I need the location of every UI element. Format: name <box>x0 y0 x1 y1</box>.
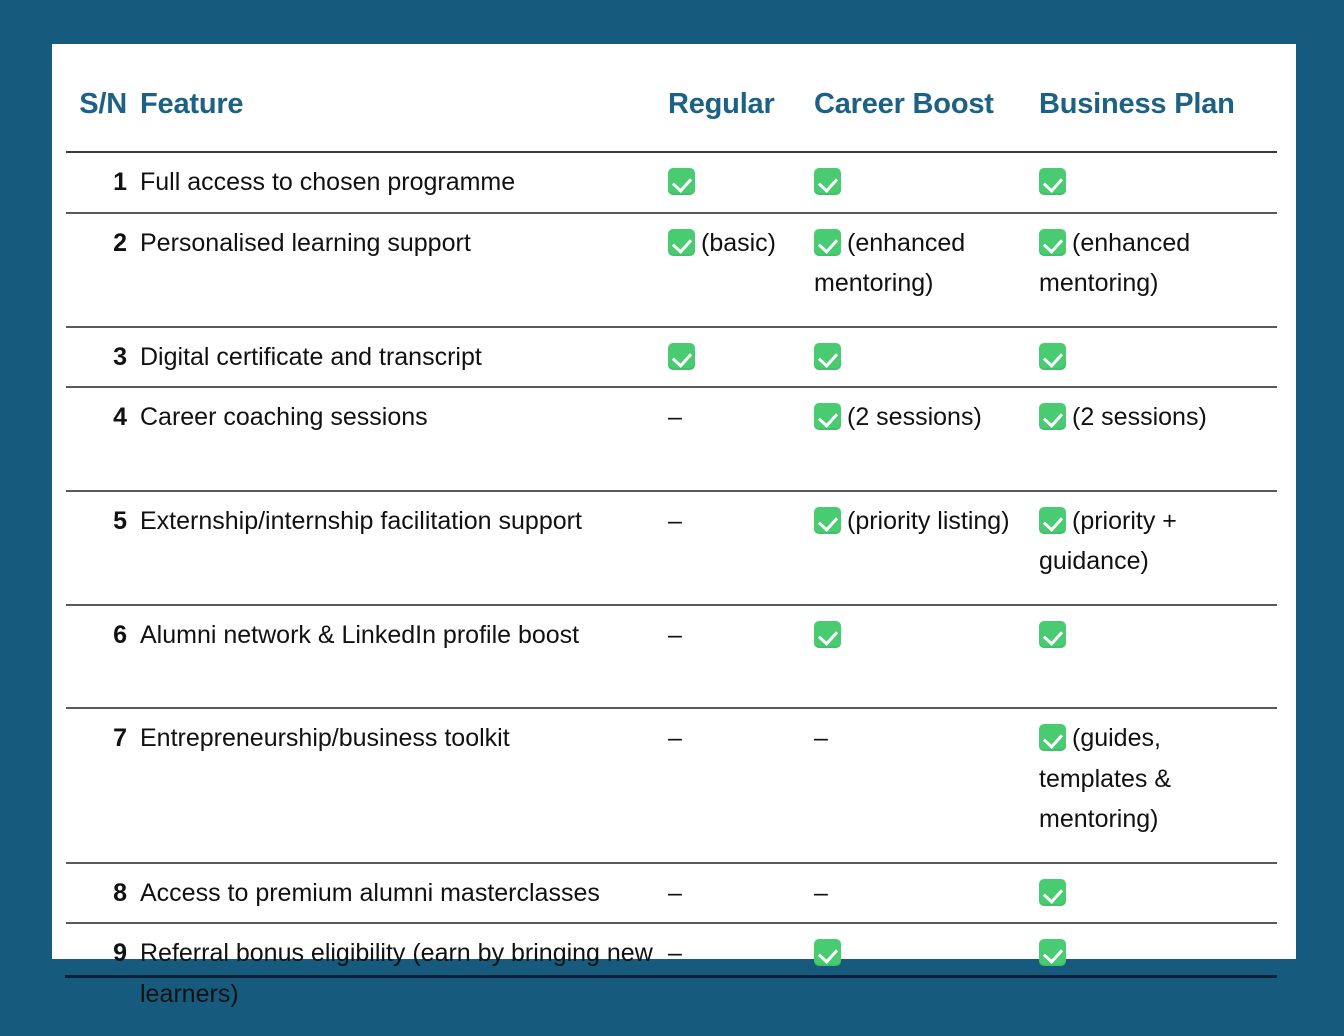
content-panel: S/N Feature Regular Career Boost Busines… <box>52 44 1296 959</box>
row-number: 4 <box>66 387 140 491</box>
plan-note: (2 sessions) <box>1072 403 1207 431</box>
cell-business-plan <box>1039 152 1277 213</box>
feature-label: Externship/internship facilitation suppo… <box>140 491 668 605</box>
feature-label: Full access to chosen programme <box>140 152 668 213</box>
check-mark-button-icon <box>814 343 841 370</box>
cell-career-boost <box>814 327 1039 388</box>
cell-business-plan <box>1039 923 1277 1036</box>
row-number: 7 <box>66 708 140 863</box>
check-mark-button-icon <box>1039 168 1066 195</box>
check-mark-button-icon <box>814 229 841 256</box>
cell-business-plan <box>1039 605 1277 709</box>
row-number: 2 <box>66 213 140 327</box>
cell-regular: – <box>668 923 814 1036</box>
check-mark-button-icon <box>1039 621 1066 648</box>
check-mark-button-icon <box>814 168 841 195</box>
cell-business-plan: (priority + guidance) <box>1039 491 1277 605</box>
feature-label: Referral bonus eligibility (earn by brin… <box>140 923 668 1036</box>
en-dash-icon: – <box>668 933 682 974</box>
footer-divider <box>65 975 1277 978</box>
table-row: 9Referral bonus eligibility (earn by bri… <box>66 923 1277 1036</box>
cell-career-boost: – <box>814 708 1039 863</box>
en-dash-icon: – <box>668 873 682 914</box>
cell-business-plan: (2 sessions) <box>1039 387 1277 491</box>
check-mark-button-icon <box>1039 343 1066 370</box>
row-number: 6 <box>66 605 140 709</box>
cell-regular <box>668 327 814 388</box>
column-header-business-plan: Business Plan <box>1039 88 1277 152</box>
plan-note: (basic) <box>701 229 776 257</box>
check-mark-button-icon <box>668 168 695 195</box>
row-number: 9 <box>66 923 140 1036</box>
check-mark-button-icon <box>1039 507 1066 534</box>
table-row: 3Digital certificate and transcript <box>66 327 1277 388</box>
en-dash-icon: – <box>668 718 682 759</box>
feature-label: Entrepreneurship/business toolkit <box>140 708 668 863</box>
table-row: 4Career coaching sessions–(2 sessions)(2… <box>66 387 1277 491</box>
cell-business-plan <box>1039 327 1277 388</box>
table-header-row: S/N Feature Regular Career Boost Busines… <box>66 88 1277 152</box>
cell-regular <box>668 152 814 213</box>
cell-regular: – <box>668 387 814 491</box>
cell-regular: – <box>668 605 814 709</box>
table-row: 6Alumni network & LinkedIn profile boost… <box>66 605 1277 709</box>
check-mark-button-icon <box>1039 724 1066 751</box>
table-row: 8Access to premium alumni masterclasses–… <box>66 863 1277 924</box>
table-row: 7Entrepreneurship/business toolkit––(gui… <box>66 708 1277 863</box>
row-number: 8 <box>66 863 140 924</box>
cell-career-boost: (priority listing) <box>814 491 1039 605</box>
cell-career-boost: (enhanced mentoring) <box>814 213 1039 327</box>
cell-regular: (basic) <box>668 213 814 327</box>
cell-regular: – <box>668 708 814 863</box>
feature-label: Alumni network & LinkedIn profile boost <box>140 605 668 709</box>
check-mark-button-icon <box>1039 939 1066 966</box>
table-row: 1Full access to chosen programme <box>66 152 1277 213</box>
en-dash-icon: – <box>814 718 828 759</box>
table-body: 1Full access to chosen programme2Persona… <box>66 152 1277 1036</box>
cell-career-boost: – <box>814 863 1039 924</box>
en-dash-icon: – <box>668 501 682 542</box>
cell-business-plan <box>1039 863 1277 924</box>
cell-career-boost <box>814 605 1039 709</box>
check-mark-button-icon <box>814 621 841 648</box>
plan-note: (2 sessions) <box>847 403 982 431</box>
en-dash-icon: – <box>814 873 828 914</box>
check-mark-button-icon <box>668 229 695 256</box>
feature-label: Career coaching sessions <box>140 387 668 491</box>
column-header-career-boost: Career Boost <box>814 88 1039 152</box>
column-header-regular: Regular <box>668 88 814 152</box>
cell-regular: – <box>668 491 814 605</box>
check-mark-button-icon <box>814 939 841 966</box>
cell-business-plan: (guides, templates & mentoring) <box>1039 708 1277 863</box>
check-mark-button-icon <box>814 507 841 534</box>
check-mark-button-icon <box>1039 229 1066 256</box>
check-mark-button-icon <box>668 343 695 370</box>
row-number: 1 <box>66 152 140 213</box>
check-mark-button-icon <box>1039 403 1066 430</box>
check-mark-button-icon <box>814 403 841 430</box>
cell-business-plan: (enhanced mentoring) <box>1039 213 1277 327</box>
table-header: S/N Feature Regular Career Boost Busines… <box>66 88 1277 152</box>
row-number: 5 <box>66 491 140 605</box>
plan-note: (priority listing) <box>847 507 1010 535</box>
cell-regular: – <box>668 863 814 924</box>
en-dash-icon: – <box>668 397 682 438</box>
feature-label: Access to premium alumni masterclasses <box>140 863 668 924</box>
feature-label: Personalised learning support <box>140 213 668 327</box>
en-dash-icon: – <box>668 615 682 656</box>
cell-career-boost <box>814 923 1039 1036</box>
check-mark-button-icon <box>1039 879 1066 906</box>
table-row: 2Personalised learning support(basic)(en… <box>66 213 1277 327</box>
plan-comparison-table: S/N Feature Regular Career Boost Busines… <box>66 88 1277 1036</box>
cell-career-boost <box>814 152 1039 213</box>
cell-career-boost: (2 sessions) <box>814 387 1039 491</box>
table-row: 5Externship/internship facilitation supp… <box>66 491 1277 605</box>
slide-canvas: S/N Feature Regular Career Boost Busines… <box>0 0 1344 1008</box>
row-number: 3 <box>66 327 140 388</box>
feature-label: Digital certificate and transcript <box>140 327 668 388</box>
column-header-sn: S/N <box>66 88 140 152</box>
column-header-feature: Feature <box>140 88 668 152</box>
